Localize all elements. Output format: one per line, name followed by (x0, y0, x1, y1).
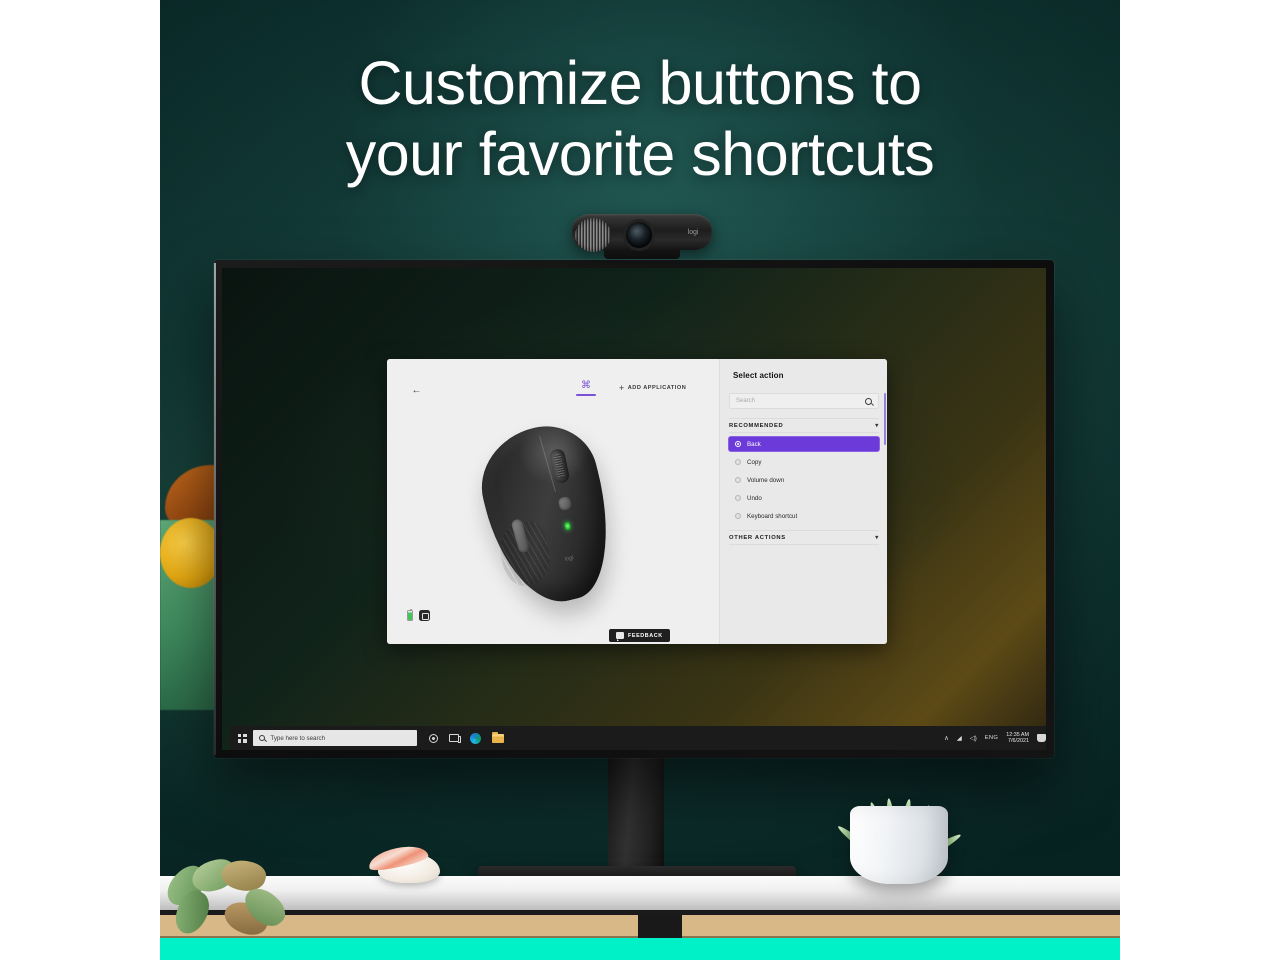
device-status-bar (407, 610, 430, 621)
webcam-focus-ring (575, 218, 611, 252)
desktop-monitor: ← ⌘ + ADD APPLICATION (214, 260, 1054, 758)
taskbar-icons (429, 733, 504, 744)
taskbar-search-placeholder: Type here to search (270, 735, 325, 742)
edge-browser-icon[interactable] (470, 733, 481, 744)
webcam-brand-logo: logi (688, 229, 698, 236)
search-icon[interactable] (865, 398, 872, 405)
app-toolbar: ← ⌘ + ADD APPLICATION (387, 379, 719, 403)
mouse-body (469, 415, 626, 614)
chevron-down-icon: ▾ (875, 535, 879, 541)
radio-button[interactable] (735, 477, 741, 483)
apps-grid-icon: ⌘ (573, 380, 599, 392)
action-item-undo[interactable]: Undo (729, 491, 879, 505)
section-label: RECOMMENDED (729, 423, 783, 429)
clock-time: 12:35 AM (1006, 732, 1029, 738)
section-header-recommended[interactable]: RECOMMENDED ▾ (729, 418, 879, 433)
logitech-signature-mouse: logi (473, 419, 633, 609)
taskbar-search-input[interactable]: Type here to search (253, 730, 417, 746)
search-placeholder: Search (736, 398, 755, 404)
select-action-panel: Select action Search RECOMMENDED ▾ Back (719, 359, 887, 644)
chat-bubble-icon (616, 632, 624, 638)
webcam-lens (626, 222, 652, 248)
action-label: Keyboard shortcut (747, 513, 797, 520)
white-ceramic-pot (850, 806, 948, 884)
language-indicator[interactable]: ENG (985, 735, 998, 741)
back-arrow-icon[interactable]: ← (411, 385, 422, 396)
shrimp-nigiri-decoration (368, 845, 446, 883)
cortana-icon[interactable] (429, 734, 438, 743)
product-photo-scene: Customize buttons to your favorite short… (160, 0, 1120, 960)
section-label: OTHER ACTIONS (729, 535, 786, 541)
section-header-other-actions[interactable]: OTHER ACTIONS ▾ (729, 530, 879, 545)
webcam-body: logi (572, 214, 712, 250)
feedback-button[interactable]: FEEDBACK (609, 629, 670, 642)
app-main-pane: ← ⌘ + ADD APPLICATION (387, 359, 719, 644)
yellow-lamp-glow (160, 518, 222, 588)
volume-icon[interactable]: ◁) (970, 734, 977, 742)
panel-scrollbar[interactable] (884, 393, 886, 445)
notifications-icon[interactable] (1037, 734, 1046, 742)
white-desk-surface (160, 876, 1120, 910)
add-application-button[interactable]: + ADD APPLICATION (619, 384, 686, 392)
page-title: Customize buttons to your favorite short… (160, 48, 1120, 190)
haworthia-succulent-in-white-pot (832, 702, 964, 884)
clock-date: 7/6/2021 (1008, 738, 1029, 744)
task-view-icon[interactable] (449, 734, 459, 742)
plus-icon: + (619, 384, 625, 392)
action-label: Copy (747, 459, 761, 466)
windows-logo-icon (238, 734, 247, 743)
monitor-stand-neck (608, 756, 664, 872)
action-item-keyboard-shortcut[interactable]: Keyboard shortcut (729, 509, 879, 523)
action-label: Back (747, 441, 761, 448)
panel-title: Select action (733, 371, 784, 380)
action-label: Volume down (747, 477, 784, 484)
monitor-screen: ← ⌘ + ADD APPLICATION (222, 268, 1046, 750)
add-application-label: ADD APPLICATION (628, 385, 686, 391)
start-button[interactable] (234, 734, 250, 743)
tab-all-applications[interactable]: ⌘ (573, 380, 599, 396)
left-white-margin (0, 0, 160, 960)
action-item-back[interactable]: Back (729, 437, 879, 451)
logi-options-window[interactable]: ← ⌘ + ADD APPLICATION (387, 359, 887, 644)
logitech-webcam: logi (572, 211, 712, 255)
drawer-gap (638, 915, 682, 940)
radio-button[interactable] (735, 459, 741, 465)
radio-button[interactable] (735, 441, 741, 447)
accent-bottom-bar (160, 938, 1120, 960)
file-explorer-icon[interactable] (492, 734, 504, 743)
right-white-margin (1120, 0, 1280, 960)
action-item-copy[interactable]: Copy (729, 455, 879, 469)
radio-button[interactable] (735, 495, 741, 501)
radio-button[interactable] (735, 513, 741, 519)
action-item-volume-down[interactable]: Volume down (729, 473, 879, 487)
feedback-label: FEEDBACK (628, 633, 663, 639)
promo-image: Customize buttons to your favorite short… (0, 0, 1280, 960)
headline-line-1: Customize buttons to (160, 48, 1120, 119)
device-settings-icon[interactable] (419, 610, 430, 621)
action-label: Undo (747, 495, 762, 502)
battery-icon[interactable] (407, 610, 413, 621)
headline-line-2: your favorite shortcuts (160, 119, 1120, 190)
chevron-down-icon: ▾ (875, 423, 879, 429)
search-input[interactable]: Search (729, 393, 879, 409)
active-tab-underline (576, 394, 596, 396)
search-icon (259, 735, 265, 741)
clock[interactable]: 12:35 AM 7/6/2021 (1006, 732, 1029, 745)
